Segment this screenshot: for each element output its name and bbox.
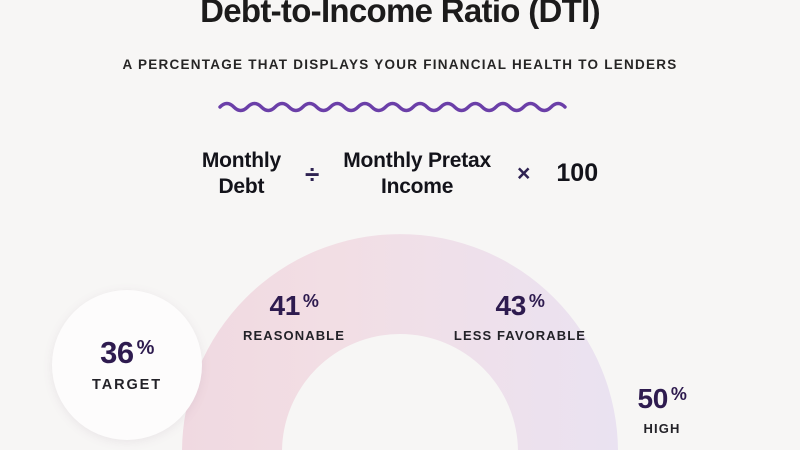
percent-sign-icon: % [529, 292, 545, 310]
formula-term-hundred: 100 [556, 158, 598, 189]
less-favorable-label: LESS FAVORABLE [418, 328, 622, 343]
formula-term-monthly-pretax-income-line1: Monthly Pretax [343, 148, 491, 174]
target-percentage: 36 % [100, 337, 154, 368]
gauge-segment-high: 50 % HIGH [576, 385, 748, 436]
page-subtitle: A PERCENTAGE THAT DISPLAYS YOUR FINANCIA… [0, 57, 800, 72]
wavy-line-divider-icon [218, 96, 578, 118]
gauge-segment-reasonable: 41 % REASONABLE [196, 292, 392, 343]
high-percentage: 50 % [638, 385, 687, 413]
target-label: TARGET [92, 377, 162, 393]
target-badge: 36 % TARGET [52, 290, 202, 440]
formula-term-monthly-debt: Monthly Debt [202, 148, 281, 199]
percent-sign-icon: % [303, 292, 319, 310]
reasonable-percentage-value: 41 [270, 292, 300, 320]
formula-term-monthly-pretax-income: Monthly Pretax Income [343, 148, 491, 199]
gauge-segment-less-favorable: 43 % LESS FAVORABLE [418, 292, 622, 343]
target-percentage-value: 36 [100, 337, 133, 368]
formula-term-monthly-debt-line1: Monthly [202, 148, 281, 174]
reasonable-percentage: 41 % [270, 292, 319, 320]
formula-term-monthly-debt-line2: Debt [202, 174, 281, 200]
formula-term-monthly-pretax-income-line2: Income [343, 174, 491, 200]
infographic-canvas: Debt-to-Income Ratio (DTI) A PERCENTAGE … [0, 0, 800, 450]
page-title: Debt-to-Income Ratio (DTI) [0, 0, 800, 30]
high-percentage-value: 50 [638, 385, 668, 413]
percent-sign-icon: % [137, 338, 154, 358]
multiplication-sign-icon: × [491, 162, 556, 185]
less-favorable-percentage: 43 % [496, 292, 545, 320]
high-label: HIGH [576, 421, 748, 436]
percent-sign-icon: % [671, 385, 687, 403]
dti-formula: Monthly Debt ÷ Monthly Pretax Income × 1… [0, 148, 800, 199]
division-sign-icon: ÷ [281, 161, 343, 187]
reasonable-label: REASONABLE [196, 328, 392, 343]
less-favorable-percentage-value: 43 [496, 292, 526, 320]
